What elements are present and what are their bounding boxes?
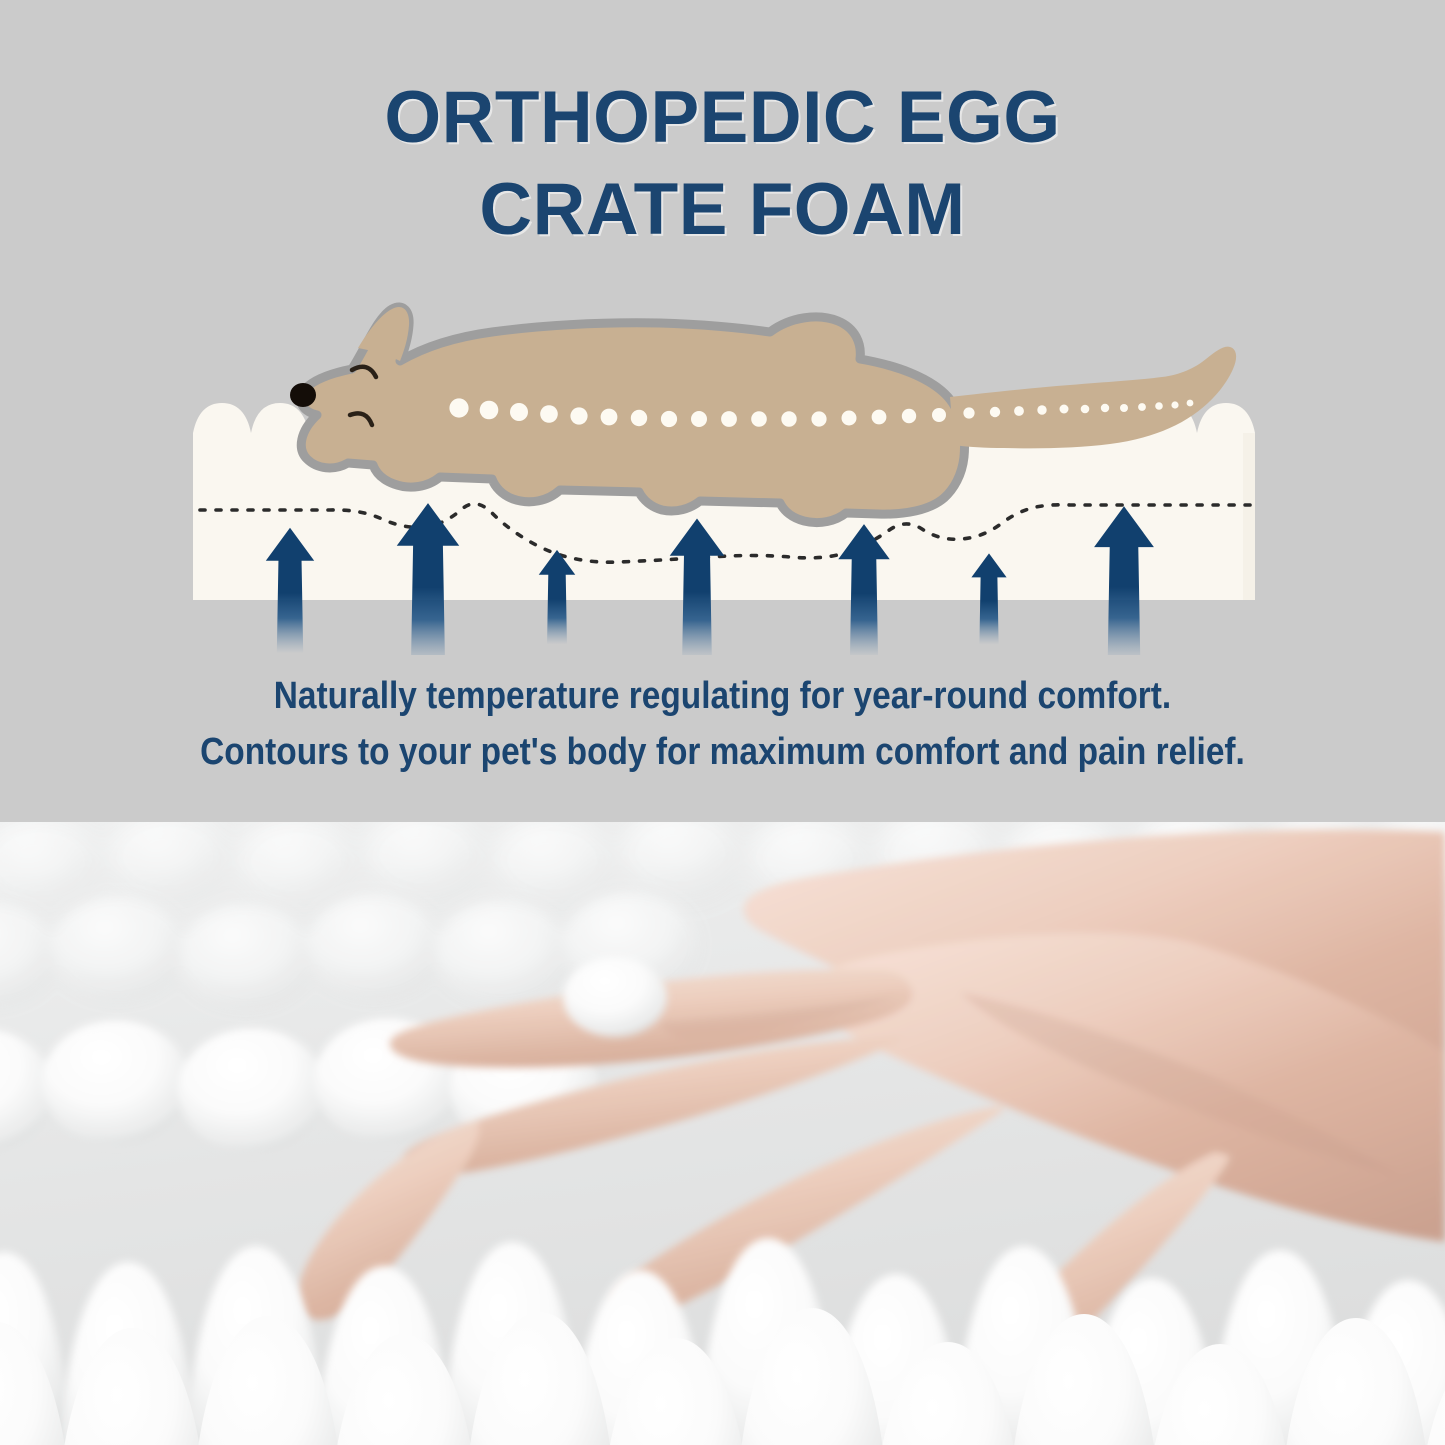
dog-nose: [290, 383, 316, 407]
title-line-1: ORTHOPEDIC EGG: [0, 72, 1445, 164]
caption-line-1: Naturally temperature regulating for yea…: [87, 668, 1359, 724]
caption-line-2: Contours to your pet's body for maximum …: [87, 724, 1359, 780]
product-infographic-page: ORTHOPEDIC EGG CRATE FOAM: [0, 0, 1445, 1445]
foam-photo-graphic: [0, 822, 1445, 1445]
caption-block: Naturally temperature regulating for yea…: [0, 668, 1445, 780]
info-panel: ORTHOPEDIC EGG CRATE FOAM: [0, 0, 1445, 822]
title-line-2: CRATE FOAM: [0, 164, 1445, 256]
foam-illustration: [0, 285, 1445, 655]
foam-photo: [0, 822, 1445, 1445]
page-title: ORTHOPEDIC EGG CRATE FOAM: [0, 72, 1445, 256]
